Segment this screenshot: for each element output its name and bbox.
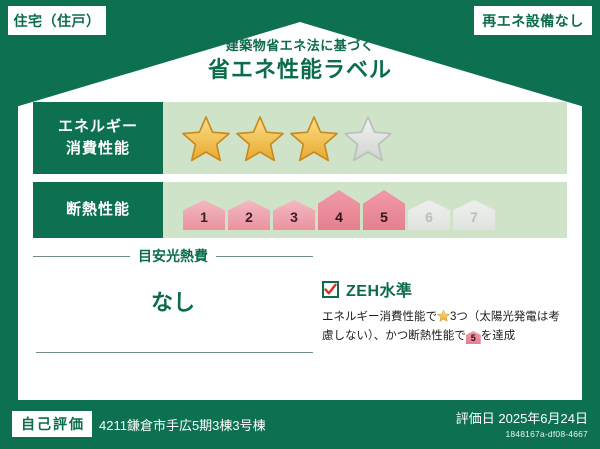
property-name: 4211鎌倉市手広5期3棟3号棟 <box>99 415 266 434</box>
star-rating <box>163 114 393 162</box>
utility-cost-heading: 目安光熱費 <box>33 246 313 266</box>
insulation-performance-label-box: 断熱性能 <box>33 182 163 238</box>
zeh-heading: ZEH水準 <box>322 277 570 301</box>
star-filled-icon <box>181 114 231 162</box>
inline-grade-badge: 5 <box>466 331 481 344</box>
cost-rule-right <box>216 256 313 257</box>
star-filled-icon <box>289 114 339 162</box>
zeh-description: エネルギー消費性能で3つ（太陽光発電は考慮しない）、かつ断熱性能で5を達成 <box>322 308 570 346</box>
star-empty-icon <box>343 114 393 162</box>
cost-rule-left <box>33 256 130 257</box>
insulation-grade-1: 1 <box>183 200 225 230</box>
renewable-energy-tag-label: 再エネ設備なし <box>482 11 584 31</box>
insulation-grade-5: 5 <box>363 190 405 230</box>
zeh-desc-part3: を達成 <box>481 330 516 342</box>
energy-performance-value <box>163 102 567 174</box>
star-filled-icon <box>235 114 285 162</box>
energy-performance-label: 住宅（住戸） 再エネ設備なし 建築物省エネ法に基づく 省エネ性能ラベル エネルギ… <box>0 0 600 449</box>
energy-performance-label-line2: 消費性能 <box>66 138 130 160</box>
renewable-energy-tag: 再エネ設備なし <box>474 6 592 35</box>
title-subtitle: 建築物省エネ法に基づく <box>0 38 600 54</box>
insulation-performance-label: 断熱性能 <box>66 199 130 221</box>
energy-performance-row: エネルギー 消費性能 <box>33 102 567 174</box>
insulation-performance-value: 1234567 <box>163 182 567 238</box>
zeh-desc-part1: エネルギー消費性能で <box>322 311 437 323</box>
energy-performance-label-box: エネルギー 消費性能 <box>33 102 163 174</box>
insulation-grade-7: 7 <box>453 200 495 230</box>
energy-performance-label-line1: エネルギー <box>58 116 138 138</box>
insulation-grade-6: 6 <box>408 200 450 230</box>
insulation-grade-scale: 1234567 <box>163 182 495 238</box>
insulation-grade-4: 4 <box>318 190 360 230</box>
building-type-tag-label: 住宅（住戸） <box>14 11 101 31</box>
zeh-checkbox-checked-icon <box>322 281 339 298</box>
footer-right: 評価日 2025年6月24日 1848167a-df08-4667 <box>456 408 588 439</box>
utility-cost-heading-text: 目安光熱費 <box>130 246 216 266</box>
insulation-grade-3: 3 <box>273 200 315 230</box>
zeh-section: ZEH水準 エネルギー消費性能で3つ（太陽光発電は考慮しない）、かつ断熱性能で5… <box>322 277 570 346</box>
utility-cost-value: なし <box>33 285 313 317</box>
page-title: 建築物省エネ法に基づく 省エネ性能ラベル <box>0 38 600 83</box>
insulation-grade-2: 2 <box>228 200 270 230</box>
cost-rule-bottom <box>36 352 313 353</box>
zeh-title: ZEH水準 <box>346 277 413 301</box>
self-evaluation-badge: 自己評価 <box>12 411 92 437</box>
document-id: 1848167a-df08-4667 <box>456 429 588 439</box>
footer-left: 自己評価 4211鎌倉市手広5期3棟3号棟 <box>12 411 266 437</box>
title-main: 省エネ性能ラベル <box>0 56 600 84</box>
inline-star-icon <box>437 309 450 322</box>
evaluation-date: 評価日 2025年6月24日 <box>456 408 588 427</box>
building-type-tag: 住宅（住戸） <box>8 6 106 35</box>
insulation-performance-row: 断熱性能 1234567 <box>33 182 567 238</box>
